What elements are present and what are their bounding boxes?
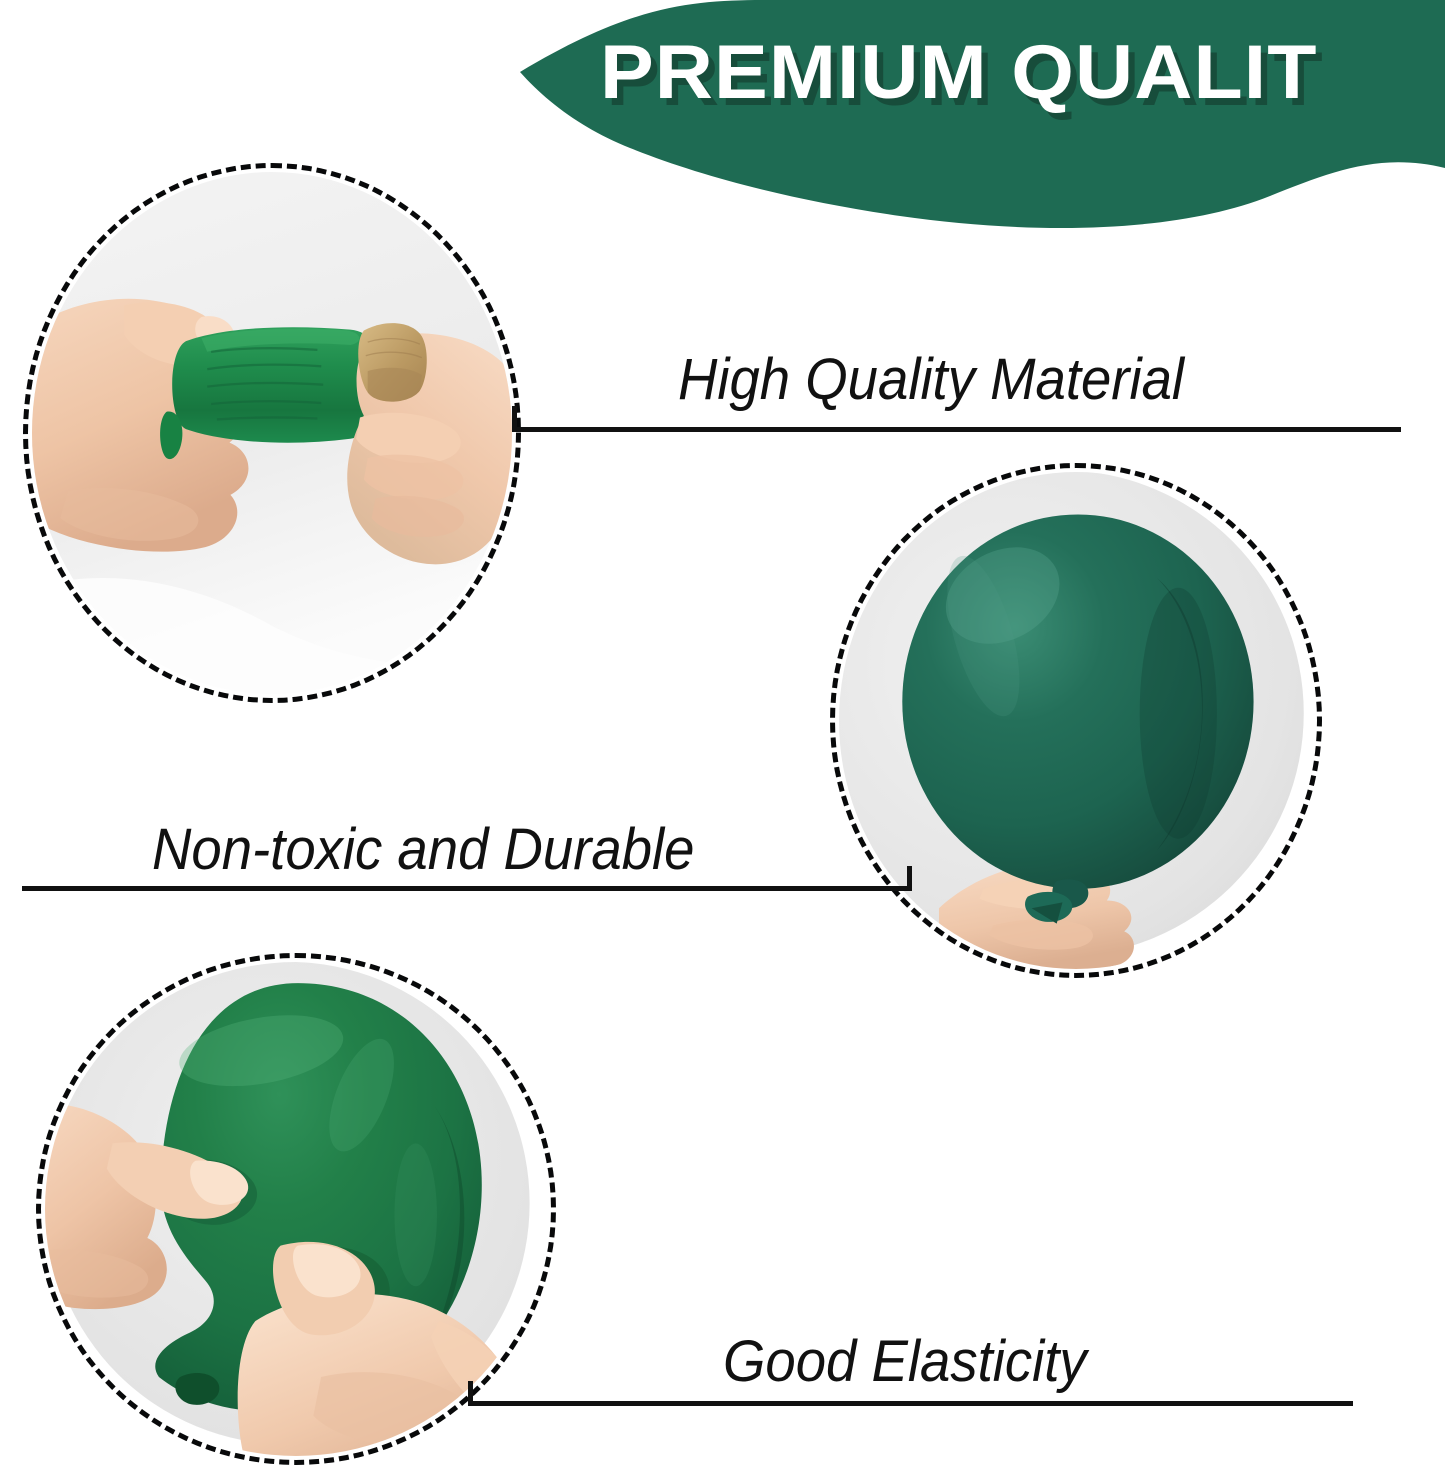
feature-rule-material [512, 427, 1401, 432]
feature-rule-cap-nontoxic [907, 866, 912, 891]
feature-label-good-elasticity: Good Elasticity [723, 1330, 1087, 1394]
photo-inflated-image [839, 472, 1313, 969]
feature-rule-nontoxic [22, 886, 912, 891]
infographic-page: PREMIUM QUALIT [0, 0, 1445, 1474]
feature-label-non-toxic-and-durable: Non-toxic and Durable [152, 818, 694, 882]
feature-label-high-quality-material: High Quality Material [678, 348, 1184, 412]
feature-rule-elastic [468, 1401, 1353, 1406]
photo-stretch-image [32, 172, 512, 694]
photo-hands-squeezing-balloon [36, 953, 556, 1465]
page-title: PREMIUM QUALIT [600, 28, 1445, 118]
photo-hand-holding-inflated-balloon [830, 463, 1322, 978]
photo-hands-stretching-balloon [23, 163, 521, 703]
